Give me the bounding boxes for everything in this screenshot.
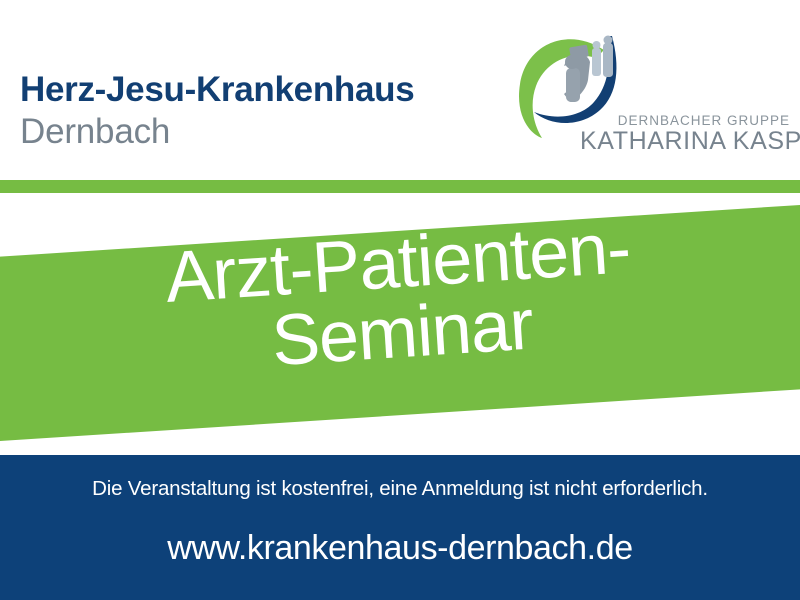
logo-wordmark: DERNBACHER GRUPPE KATHARINA KASPER [580,114,790,156]
poster-canvas: Herz-Jesu-Krankenhaus Dernbach [0,0,800,600]
green-divider-rule [0,180,800,193]
hospital-city: Dernbach [20,114,170,149]
logo-brand-name: KATHARINA KASPER [580,127,790,156]
poster-footer: Die Veranstaltung ist kostenfrei, eine A… [0,455,800,600]
title-band-area: Arzt-Patienten- Seminar [0,193,800,455]
footer-website-url[interactable]: www.krankenhaus-dernbach.de [0,529,800,568]
footer-note: Die Veranstaltung ist kostenfrei, eine A… [0,477,800,501]
poster-header: Herz-Jesu-Krankenhaus Dernbach [0,0,800,180]
hospital-name: Herz-Jesu-Krankenhaus [20,72,414,107]
logo-group-label: DERNBACHER GRUPPE [580,114,790,128]
organization-logo: DERNBACHER GRUPPE KATHARINA KASPER [508,22,790,162]
